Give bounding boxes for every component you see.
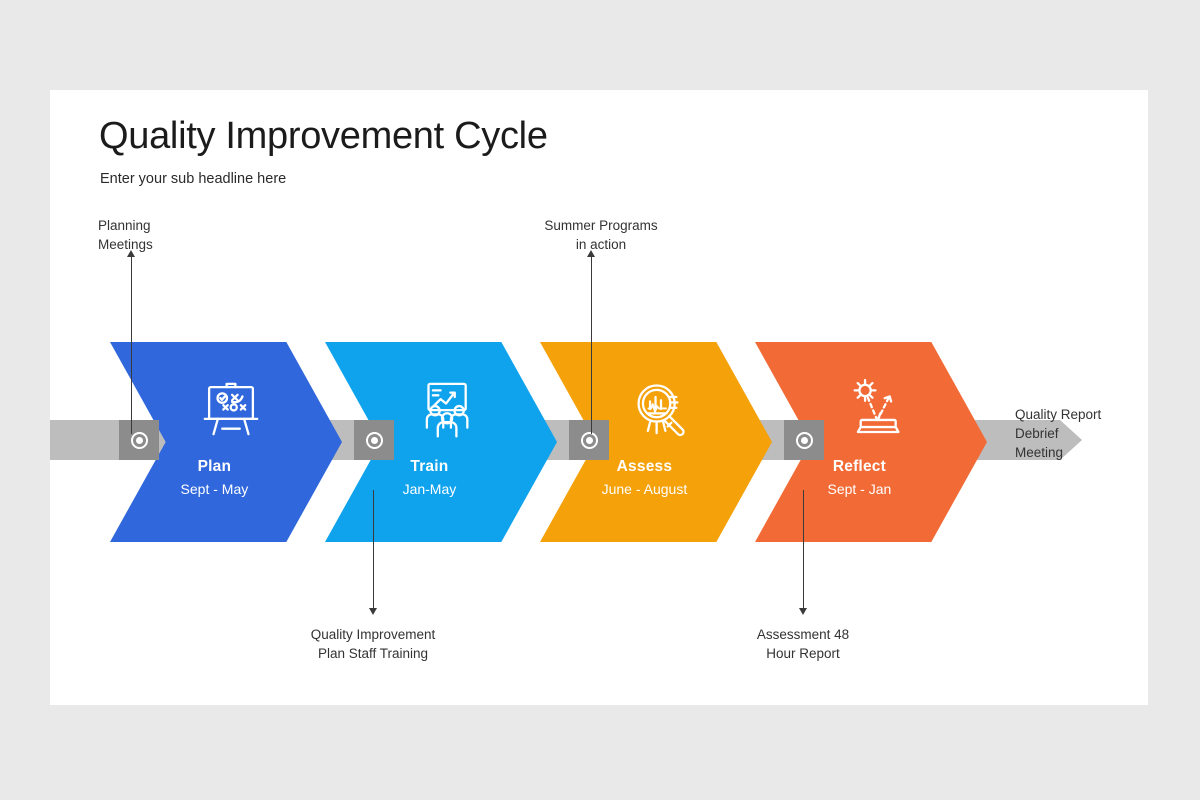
stage-period: Sept - May (110, 481, 319, 497)
node-dot-icon (801, 437, 808, 444)
easel-strategy-board-icon (196, 374, 266, 444)
node-dot-icon (136, 437, 143, 444)
leader-line-summer-programs (591, 256, 592, 434)
callout-quality-report-debrief: Quality Report Debrief Meeting (1015, 405, 1101, 462)
magnifier-bar-chart-icon (626, 374, 696, 444)
page-title: Quality Improvement Cycle (99, 115, 548, 158)
timeline-node-3[interactable] (784, 420, 824, 460)
page-subtitle: Enter your sub headline here (100, 171, 286, 187)
stage-period: Jan-May (325, 481, 534, 497)
callout-assessment-report: Assessment 48 Hour Report (708, 625, 898, 663)
stage-label: Plan (110, 458, 319, 476)
callout-summer-programs: Summer Programs in action (506, 216, 696, 254)
timeline-node-1[interactable] (354, 420, 394, 460)
node-dot-icon (586, 437, 593, 444)
leader-line-assessment-report (803, 490, 804, 608)
stage-label: Train (325, 458, 534, 476)
training-presentation-people-icon (411, 374, 481, 444)
timeline-node-0[interactable] (119, 420, 159, 460)
sun-reflection-mirror-icon (841, 374, 911, 444)
callout-qip-staff-training: Quality Improvement Plan Staff Training (278, 625, 468, 663)
callout-planning-meetings: Planning Meetings (98, 216, 153, 254)
slide-card: Quality Improvement Cycle Enter your sub… (50, 90, 1148, 705)
stage-label: Assess (540, 458, 749, 476)
arrow-down-icon (799, 608, 807, 615)
stage-label: Reflect (755, 458, 964, 476)
node-dot-icon (371, 437, 378, 444)
leader-line-planning-meetings (131, 256, 132, 434)
stage-period: June - August (540, 481, 749, 497)
leader-line-qip-training (373, 490, 374, 608)
arrow-up-icon (127, 250, 135, 257)
arrow-up-icon (587, 250, 595, 257)
stage-period: Sept - Jan (755, 481, 964, 497)
arrow-down-icon (369, 608, 377, 615)
timeline-node-2[interactable] (569, 420, 609, 460)
